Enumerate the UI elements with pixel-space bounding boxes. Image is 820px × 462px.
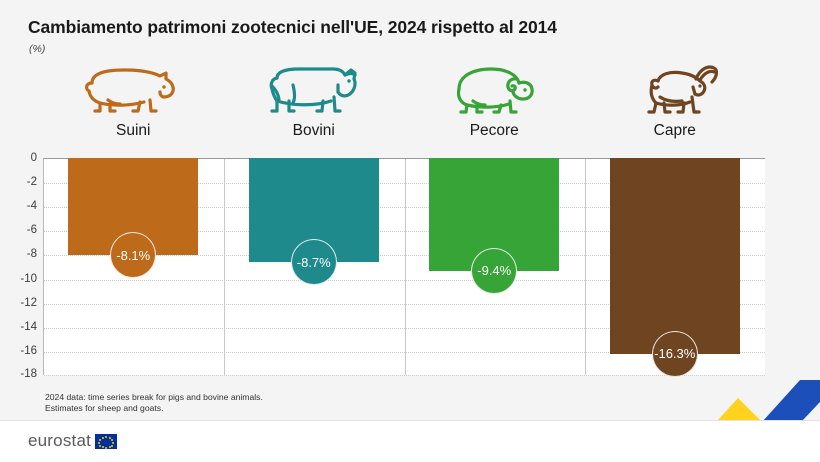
category-header-row: Suini (43, 58, 765, 156)
y-tick-label: -6 (27, 224, 37, 236)
y-tick-label: -14 (20, 321, 37, 333)
footer: eurostat (0, 420, 820, 462)
bar-slot-capre: -16.3% (585, 158, 766, 375)
footnote: 2024 data: time series break for pigs an… (45, 392, 263, 414)
category-header-capre: Capre (585, 58, 766, 156)
y-tick-label: -2 (27, 176, 37, 188)
footnote-line-1: 2024 data: time series break for pigs an… (45, 392, 263, 403)
bar-series: -8.1% -8.7% -9.4% -16.3% (43, 158, 765, 375)
pig-icon (78, 58, 188, 120)
chart-subtitle: (%) (29, 43, 45, 55)
category-label: Capre (654, 122, 696, 140)
footnote-line-2: Estimates for sheep and goats. (45, 403, 263, 414)
bar-value-badge-suini: -8.1% (110, 232, 156, 278)
y-tick-label: -8 (27, 248, 37, 260)
bar-slot-pecore: -9.4% (404, 158, 585, 375)
eurostat-logo-text: eurostat (28, 431, 91, 451)
category-header-pecore: Pecore (404, 58, 585, 156)
eurostat-logo: eurostat (28, 431, 117, 451)
bar-value-badge-pecore: -9.4% (471, 248, 517, 294)
y-tick-label: 0 (31, 152, 37, 164)
goat-icon (620, 58, 730, 120)
y-tick-label: -18 (20, 368, 37, 380)
category-label: Suini (116, 122, 150, 140)
eu-flag-icon (95, 434, 117, 449)
gridline (44, 375, 765, 376)
y-tick-label: -10 (20, 273, 37, 285)
cow-icon (259, 58, 369, 120)
y-tick-label: -16 (20, 345, 37, 357)
y-tick-label: -4 (27, 200, 37, 212)
sheep-icon (439, 58, 549, 120)
footer-divider (0, 420, 820, 421)
category-header-bovini: Bovini (224, 58, 405, 156)
y-tick-label: -12 (20, 297, 37, 309)
category-header-suini: Suini (43, 58, 224, 156)
chart-page: Cambiamento patrimoni zootecnici nell'UE… (0, 0, 820, 462)
bar-capre[interactable] (610, 158, 740, 354)
bar-value-badge-bovini: -8.7% (291, 239, 337, 285)
bar-slot-bovini: -8.7% (224, 158, 405, 375)
page-title: Cambiamento patrimoni zootecnici nell'UE… (28, 17, 557, 38)
category-label: Pecore (470, 122, 519, 140)
bar-value-badge-capre: -16.3% (652, 331, 698, 377)
bar-slot-suini: -8.1% (43, 158, 224, 375)
category-label: Bovini (293, 122, 335, 140)
